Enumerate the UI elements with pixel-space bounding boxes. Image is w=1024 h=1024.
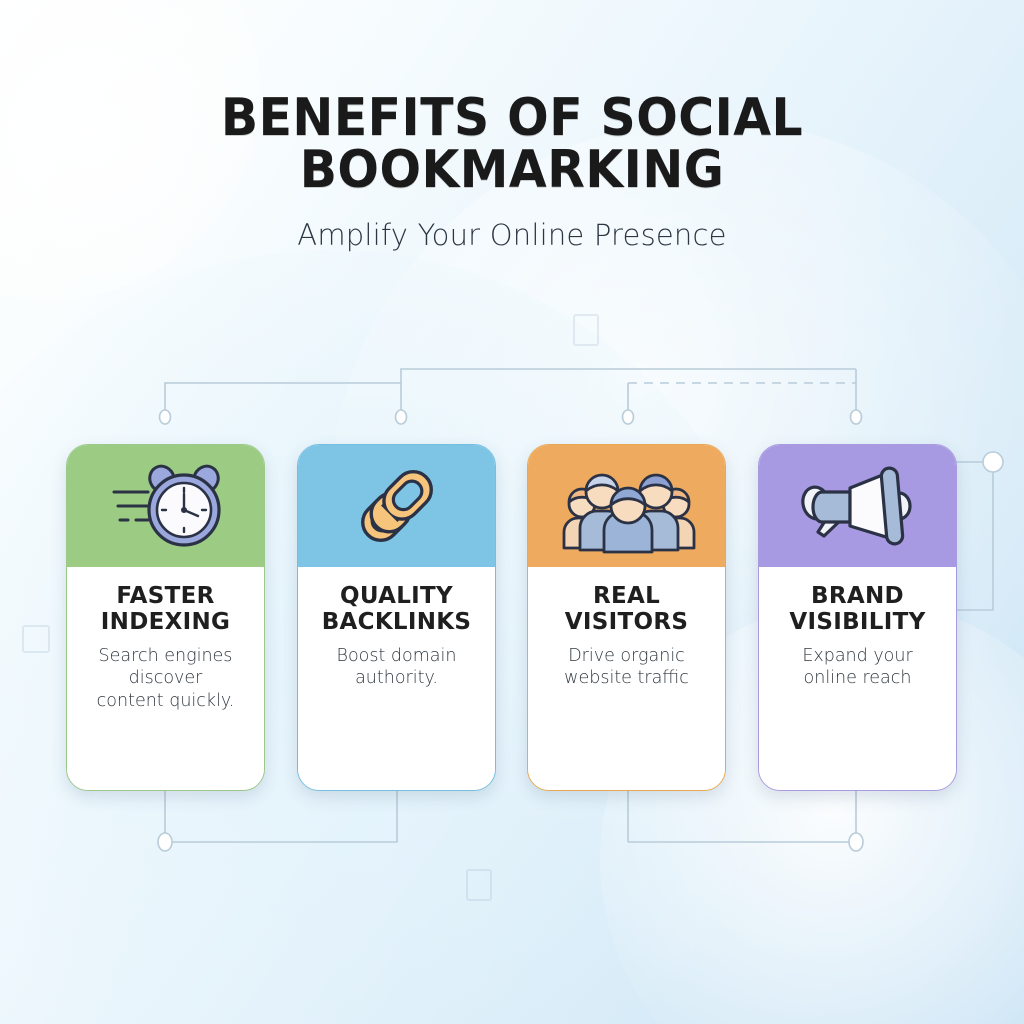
card-title-line2: VISIBILITY bbox=[789, 609, 925, 635]
megaphone-icon bbox=[792, 456, 924, 556]
card-body-brand-visibility: BRAND VISIBILITY Expand your online reac… bbox=[759, 567, 956, 790]
card-desc-line1: Search engines discover bbox=[99, 646, 233, 688]
card-body-real-visitors: REAL VISITORS Drive organic website traf… bbox=[528, 567, 725, 790]
connector-node-bottom-right bbox=[849, 833, 863, 851]
card-title-real-visitors: REAL VISITORS bbox=[538, 583, 715, 635]
card-title-line2: BACKLINKS bbox=[322, 609, 472, 635]
chain-link-icon bbox=[338, 456, 456, 556]
page-title: BENEFITS OF SOCIAL BOOKMARKING bbox=[31, 0, 994, 196]
card-description-brand-visibility: Expand your online reach bbox=[769, 645, 946, 690]
connector-card4-bottom bbox=[628, 790, 856, 842]
card-title-line1: QUALITY bbox=[340, 583, 453, 609]
people-group-icon bbox=[554, 458, 700, 554]
page-subtitle: Amplify Your Online Presence bbox=[0, 196, 1024, 252]
card-title-line1: FASTER bbox=[116, 583, 214, 609]
card-body-quality-backlinks: QUALITY BACKLINKS Boost domain authority… bbox=[298, 567, 495, 790]
card-title-quality-backlinks: QUALITY BACKLINKS bbox=[308, 583, 485, 635]
card-desc-line2: content quickly. bbox=[97, 691, 235, 711]
card-title-line2: INDEXING bbox=[101, 609, 230, 635]
alarm-clock-icon bbox=[100, 458, 232, 554]
card-desc-line2: online reach bbox=[804, 668, 912, 688]
connector-node-card3-top bbox=[623, 410, 634, 424]
card-desc-line1: Expand your bbox=[802, 646, 912, 666]
card-desc-line1: Boost domain bbox=[337, 646, 457, 666]
connector-node-right bbox=[983, 452, 1003, 472]
benefit-card-quality-backlinks[interactable]: QUALITY BACKLINKS Boost domain authority… bbox=[297, 444, 496, 791]
card-title-line1: BRAND bbox=[811, 583, 904, 609]
card-desc-line2: website traffic bbox=[564, 668, 689, 688]
card-header-quality-backlinks bbox=[298, 445, 495, 567]
connector-node-bottom-left bbox=[158, 833, 172, 851]
card-description-real-visitors: Drive organic website traffic bbox=[538, 645, 715, 690]
card-description-faster-indexing: Search engines discover content quickly. bbox=[77, 645, 254, 712]
card-body-faster-indexing: FASTER INDEXING Search engines discover … bbox=[67, 567, 264, 790]
card-header-brand-visibility bbox=[759, 445, 956, 567]
benefit-card-real-visitors[interactable]: REAL VISITORS Drive organic website traf… bbox=[527, 444, 726, 791]
card-description-quality-backlinks: Boost domain authority. bbox=[308, 645, 485, 690]
connector-node-card4-top bbox=[851, 410, 862, 424]
card-title-faster-indexing: FASTER INDEXING bbox=[77, 583, 254, 635]
card-title-line2: VISITORS bbox=[565, 609, 688, 635]
benefit-card-faster-indexing[interactable]: FASTER INDEXING Search engines discover … bbox=[66, 444, 265, 791]
header-block: BENEFITS OF SOCIAL BOOKMARKING Amplify Y… bbox=[0, 0, 1024, 252]
card-desc-line2: authority. bbox=[355, 668, 438, 688]
card-header-faster-indexing bbox=[67, 445, 264, 567]
connector-right-bracket bbox=[952, 462, 993, 610]
card-header-real-visitors bbox=[528, 445, 725, 567]
connector-node-card2-top bbox=[396, 410, 407, 424]
card-title-line1: REAL bbox=[593, 583, 660, 609]
card-title-brand-visibility: BRAND VISIBILITY bbox=[769, 583, 946, 635]
connector-card2-bottom bbox=[165, 790, 397, 842]
infographic-canvas: BENEFITS OF SOCIAL BOOKMARKING Amplify Y… bbox=[0, 0, 1024, 1024]
connector-node-card1-top bbox=[160, 410, 171, 424]
connector-card1-top bbox=[165, 383, 401, 412]
benefit-card-brand-visibility[interactable]: BRAND VISIBILITY Expand your online reac… bbox=[758, 444, 957, 791]
card-desc-line1: Drive organic bbox=[568, 646, 685, 666]
